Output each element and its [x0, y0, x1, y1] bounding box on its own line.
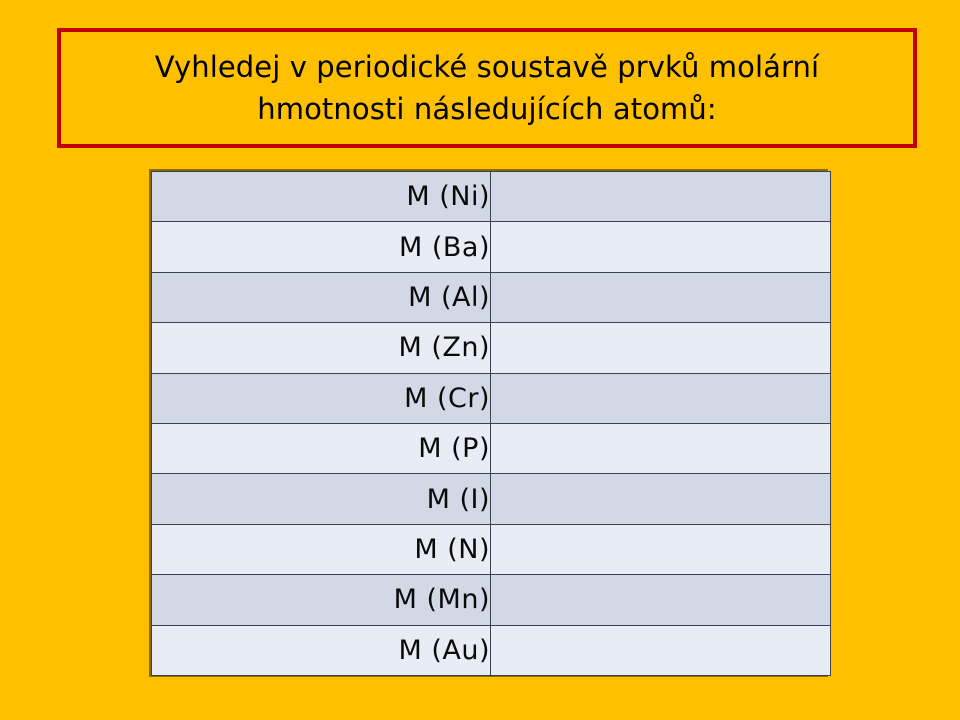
answer-input-cell[interactable] [491, 323, 831, 373]
table-row: M (N) [152, 524, 831, 574]
element-label-cell: M (Au) [152, 625, 491, 675]
table-row: M (Zn) [152, 323, 831, 373]
element-label-cell: M (Zn) [152, 323, 491, 373]
element-label-cell: M (Mn) [152, 575, 491, 625]
table-body: M (Ni) M (Ba) M (Al) M (Zn) M (Cr) M (P) [152, 172, 831, 676]
table-row: M (Ba) [152, 222, 831, 272]
answer-input-cell[interactable] [491, 373, 831, 423]
answer-input-cell[interactable] [491, 172, 831, 222]
molar-mass-table: M (Ni) M (Ba) M (Al) M (Zn) M (Cr) M (P) [149, 169, 828, 677]
table-row: M (Mn) [152, 575, 831, 625]
answer-input-cell[interactable] [491, 222, 831, 272]
table-row: M (Au) [152, 625, 831, 675]
answer-input-cell[interactable] [491, 272, 831, 322]
table-row: M (Cr) [152, 373, 831, 423]
table-row: M (Al) [152, 272, 831, 322]
answer-input-cell[interactable] [491, 524, 831, 574]
title-box: Vyhledej v periodické soustavě prvků mol… [57, 28, 917, 148]
element-label-cell: M (Al) [152, 272, 491, 322]
table-row: M (P) [152, 423, 831, 473]
table-row: M (I) [152, 474, 831, 524]
table-row: M (Ni) [152, 172, 831, 222]
element-label-cell: M (Cr) [152, 373, 491, 423]
element-label-cell: M (I) [152, 474, 491, 524]
answer-input-cell[interactable] [491, 575, 831, 625]
answer-input-cell[interactable] [491, 423, 831, 473]
answer-input-cell[interactable] [491, 625, 831, 675]
element-label-cell: M (Ba) [152, 222, 491, 272]
element-label-cell: M (Ni) [152, 172, 491, 222]
answer-input-cell[interactable] [491, 474, 831, 524]
element-label-cell: M (N) [152, 524, 491, 574]
molar-mass-table-grid: M (Ni) M (Ba) M (Al) M (Zn) M (Cr) M (P) [151, 171, 831, 676]
element-label-cell: M (P) [152, 423, 491, 473]
page-title: Vyhledej v periodické soustavě prvků mol… [133, 46, 841, 130]
